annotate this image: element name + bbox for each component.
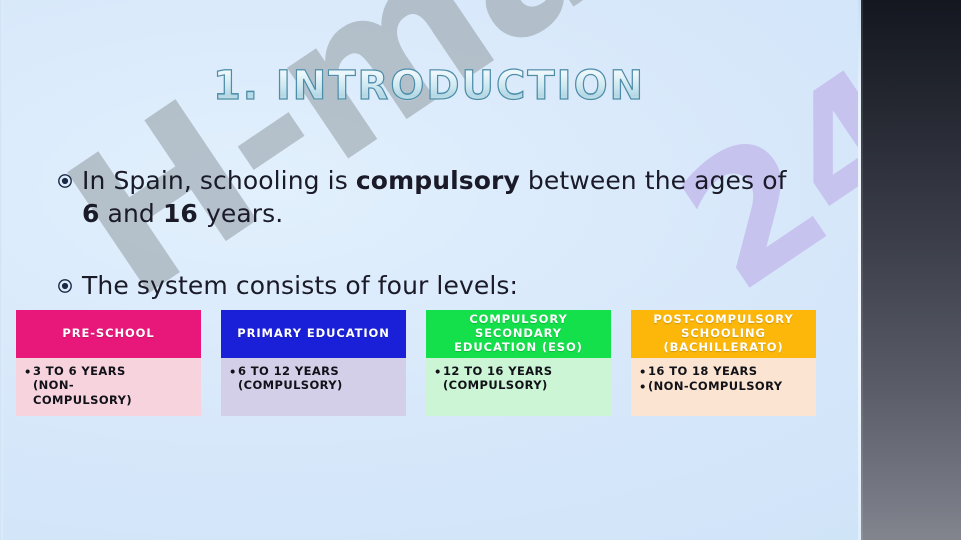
- page-title: 1. INTRODUCTION: [0, 64, 858, 108]
- education-level-card[interactable]: POST-COMPULSORY SCHOOLING (BACHILLERATO)…: [631, 310, 816, 416]
- education-level-detail-text: 6 TO 12 YEARS (COMPULSORY): [238, 364, 400, 393]
- education-level-detail: •16 TO 18 YEARS: [639, 364, 810, 379]
- education-level-card[interactable]: PRIMARY EDUCATION•6 TO 12 YEARS (COMPULS…: [221, 310, 406, 416]
- education-levels-group: PRE-SCHOOL•3 TO 6 YEARS (NON- COMPULSORY…: [16, 310, 822, 416]
- square-bullet-icon: •: [639, 365, 648, 379]
- bullet-segment: 6: [82, 199, 100, 228]
- bullet-text-1: In Spain, schooling is compulsory betwee…: [82, 165, 798, 230]
- bullet-segment: The system consists of four levels:: [82, 271, 518, 300]
- bullet-segment: and: [100, 199, 163, 228]
- bullet-segment: In Spain, schooling is: [82, 166, 356, 195]
- education-level-header: PRE-SCHOOL: [16, 310, 201, 358]
- education-level-detail: •12 TO 16 YEARS (COMPULSORY): [434, 364, 605, 393]
- bullet-segment: years.: [198, 199, 283, 228]
- education-level-card[interactable]: COMPULSORY SECONDARY EDUCATION (ESO)•12 …: [426, 310, 611, 416]
- education-level-detail: •3 TO 6 YEARS (NON- COMPULSORY): [24, 364, 195, 407]
- bullet-text-2: The system consists of four levels:: [82, 270, 518, 303]
- bullet-segment: 16: [163, 199, 198, 228]
- education-level-header: POST-COMPULSORY SCHOOLING (BACHILLERATO): [631, 310, 816, 358]
- right-dark-panel: [858, 0, 961, 540]
- education-level-header: PRIMARY EDUCATION: [221, 310, 406, 358]
- bullet-item-1: In Spain, schooling is compulsory betwee…: [58, 165, 798, 230]
- education-level-header: COMPULSORY SECONDARY EDUCATION (ESO): [426, 310, 611, 358]
- slide-viewer: H-mat 24 1. INTRODUCTION In Spain, schoo…: [0, 0, 961, 540]
- ring-bullet-icon: [58, 174, 72, 188]
- education-level-body: •6 TO 12 YEARS (COMPULSORY): [221, 358, 406, 416]
- education-level-detail-text: 16 TO 18 YEARS: [648, 364, 810, 378]
- bullet-segment: between the ages of: [520, 166, 787, 195]
- education-level-card[interactable]: PRE-SCHOOL•3 TO 6 YEARS (NON- COMPULSORY…: [16, 310, 201, 416]
- bullet-item-2: The system consists of four levels:: [58, 270, 798, 303]
- square-bullet-icon: •: [229, 365, 238, 379]
- education-level-detail-text: (NON-COMPULSORY: [648, 379, 810, 393]
- education-level-detail-text: 3 TO 6 YEARS (NON- COMPULSORY): [33, 364, 195, 407]
- square-bullet-icon: •: [24, 365, 33, 379]
- education-level-body: •3 TO 6 YEARS (NON- COMPULSORY): [16, 358, 201, 416]
- education-level-body: •12 TO 16 YEARS (COMPULSORY): [426, 358, 611, 416]
- ring-bullet-icon: [58, 279, 72, 293]
- square-bullet-icon: •: [434, 365, 443, 379]
- education-level-detail: •6 TO 12 YEARS (COMPULSORY): [229, 364, 400, 393]
- square-bullet-icon: •: [639, 380, 648, 394]
- education-level-body: •16 TO 18 YEARS•(NON-COMPULSORY: [631, 358, 816, 416]
- presentation-slide: H-mat 24 1. INTRODUCTION In Spain, schoo…: [0, 0, 858, 540]
- panel-inner-line: [861, 0, 863, 540]
- education-level-detail: •(NON-COMPULSORY: [639, 379, 810, 394]
- education-level-detail-text: 12 TO 16 YEARS (COMPULSORY): [443, 364, 605, 393]
- bullet-segment: compulsory: [356, 166, 520, 195]
